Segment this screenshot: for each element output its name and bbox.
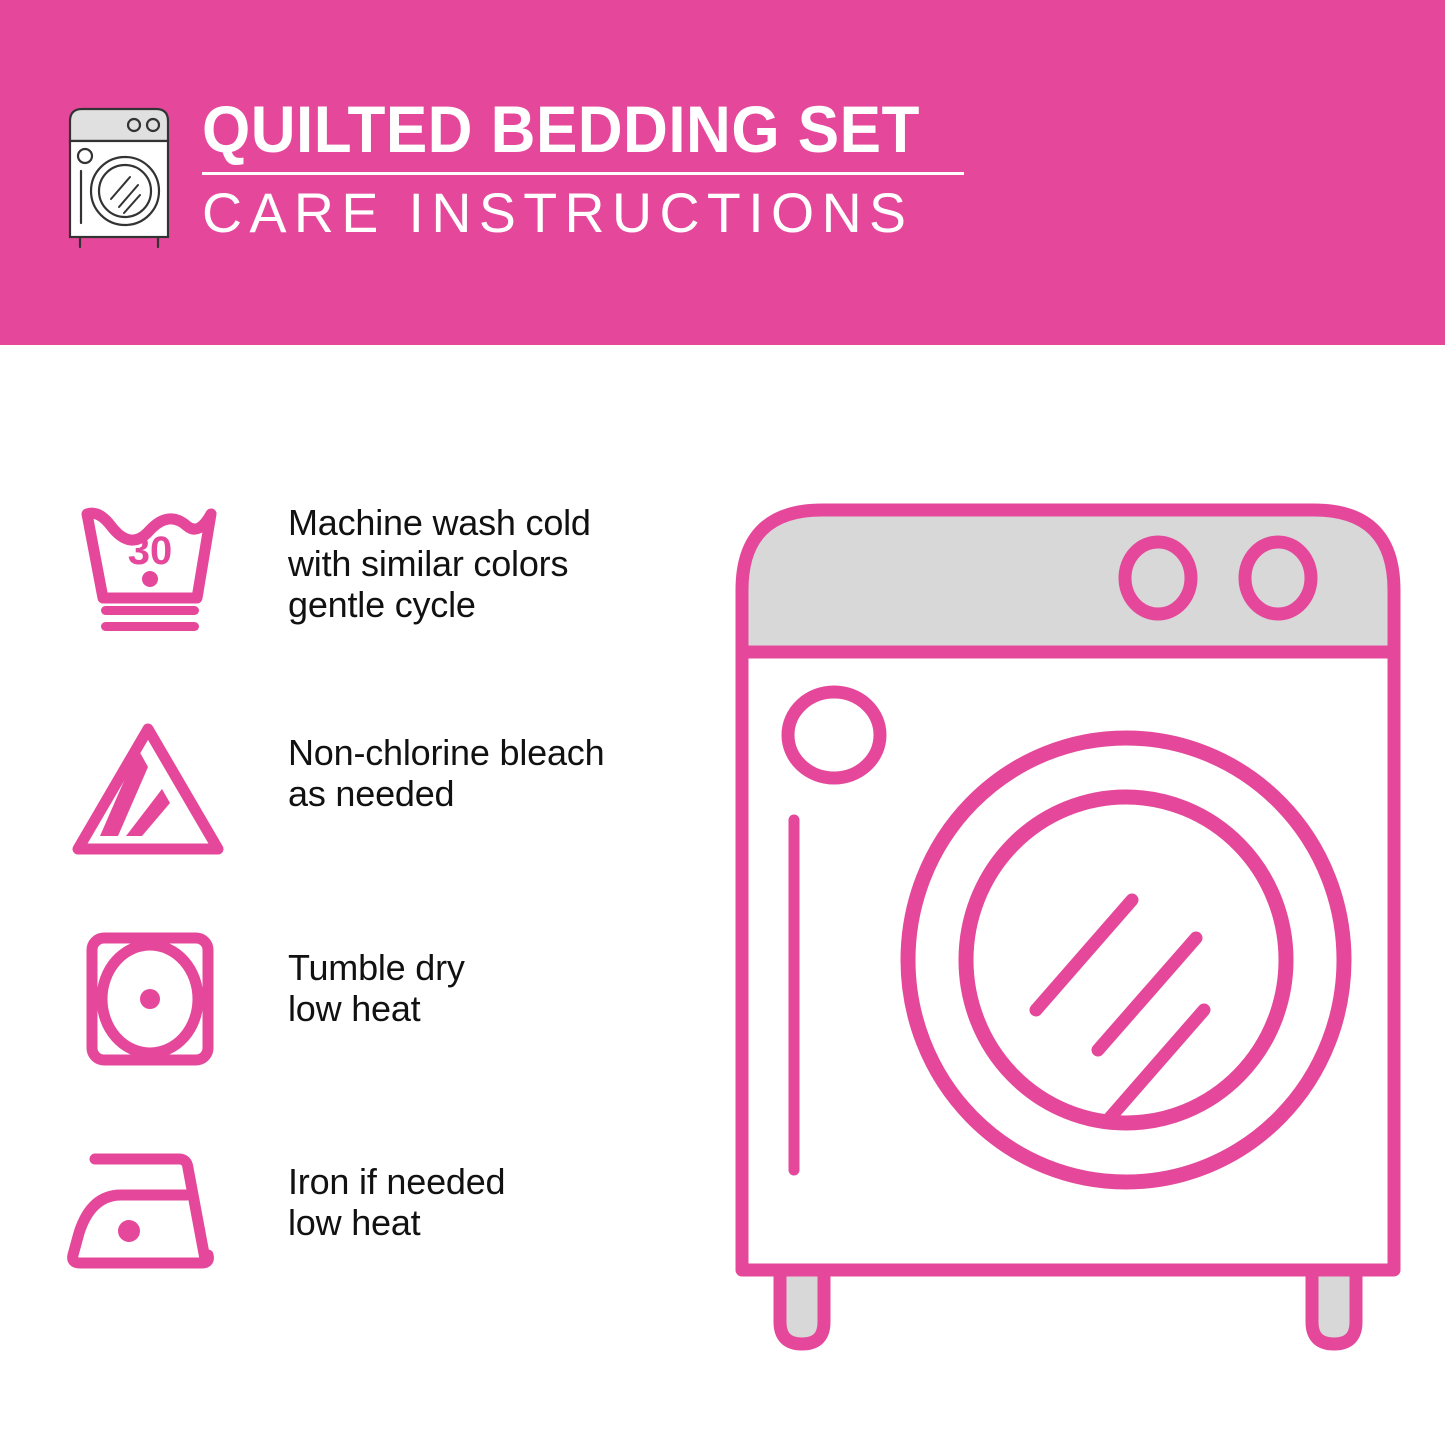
care-row-tumble-dry: Tumble dry low heat (60, 920, 700, 1135)
care-label: Iron if needed low heat (240, 1135, 700, 1243)
page-subtitle: CARE INSTRUCTIONS (202, 183, 1000, 243)
care-instruction-list: 30 Machine wash cold with similar colors… (60, 490, 700, 1350)
care-row-wash: 30 Machine wash cold with similar colors… (60, 490, 700, 705)
bleach-triangle-icon (70, 711, 230, 861)
wash-tub-icon: 30 (75, 496, 225, 641)
header-band: QUILTED BEDDING SET CARE INSTRUCTIONS (0, 0, 1445, 345)
header-divider (202, 172, 964, 175)
iron-icon (65, 1141, 235, 1281)
header-text-block: QUILTED BEDDING SET CARE INSTRUCTIONS (202, 95, 1008, 243)
care-icon-cell (60, 920, 240, 1080)
care-icon-cell (60, 705, 240, 865)
care-label: Machine wash cold with similar colors ge… (240, 490, 700, 625)
svg-text:30: 30 (128, 529, 173, 573)
header-content: QUILTED BEDDING SET CARE INSTRUCTIONS (58, 95, 1008, 255)
tumble-dry-icon (80, 926, 220, 1071)
care-row-bleach: Non-chlorine bleach as needed (60, 705, 700, 920)
care-icon-cell (60, 1135, 240, 1295)
care-label: Tumble dry low heat (240, 920, 700, 1029)
washing-machine-illustration (718, 470, 1418, 1360)
care-label: Non-chlorine bleach as needed (240, 705, 700, 814)
care-icon-cell: 30 (60, 490, 240, 650)
care-row-iron: Iron if needed low heat (60, 1135, 700, 1350)
washing-machine-icon (58, 101, 180, 251)
page-title: QUILTED BEDDING SET (202, 95, 960, 163)
care-instructions-infographic: QUILTED BEDDING SET CARE INSTRUCTIONS 30 (0, 0, 1445, 1445)
